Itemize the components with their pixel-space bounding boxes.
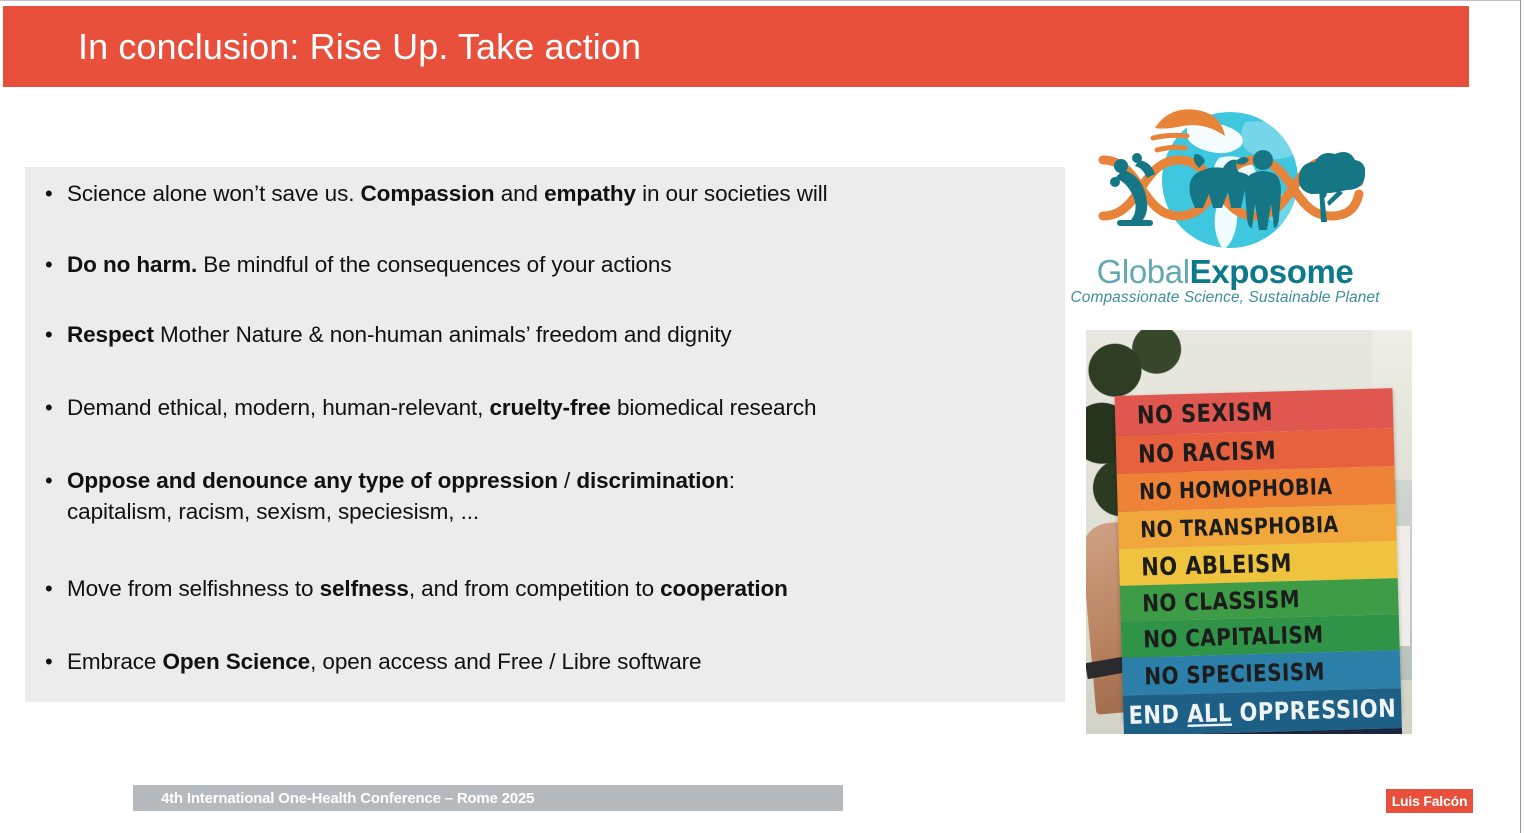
- protest-banner-photo: NO SEXISM NO RACISM NO HOMOPHOBIA NO TRA…: [1086, 330, 1412, 734]
- logo-word-exposome: Exposome: [1190, 253, 1354, 290]
- end-underlined: ALL: [1187, 699, 1232, 729]
- sign-line-text: NO CLASSISM: [1120, 585, 1300, 618]
- sign-line-text: NO TRANSPHOBIA: [1118, 511, 1339, 543]
- sign-line-text: NO CAPITALISM: [1121, 620, 1324, 654]
- end-post: OPPRESSION: [1231, 694, 1396, 727]
- author-name-label: Luis Falcón: [1386, 792, 1473, 810]
- sign-line-text: NO ABLEISM: [1119, 548, 1292, 581]
- bullet-marker-icon: •: [37, 393, 67, 423]
- sign-line-end-oppression: END ALL OPPRESSION: [1123, 688, 1402, 734]
- end-pre: END: [1128, 700, 1187, 730]
- footer-conference-label: 4th International One-Health Conference …: [161, 789, 534, 808]
- list-item: • Do no harm. Be mindful of the conseque…: [37, 250, 1057, 280]
- sign-line-text: END ALL OPPRESSION: [1128, 694, 1396, 730]
- bullet-text: Embrace Open Science, open access and Fr…: [67, 647, 1057, 677]
- bullet-marker-icon: •: [37, 574, 67, 604]
- list-item: • Oppose and denounce any type of oppres…: [37, 466, 1057, 527]
- sign-line-text: NO RACISM: [1116, 436, 1277, 469]
- list-item: • Demand ethical, modern, human-relevant…: [37, 393, 1057, 423]
- global-exposome-logo: GlobalExposome Compassionate Science, Su…: [1040, 98, 1410, 310]
- sign-line-text: NO SEXISM: [1115, 397, 1274, 430]
- bullet-marker-icon: •: [37, 179, 67, 209]
- bullet-text: Respect Mother Nature & non-human animal…: [67, 320, 1057, 350]
- list-item: • Move from selfishness to selfness, and…: [37, 574, 1057, 604]
- author-badge: Luis Falcón: [1386, 789, 1473, 813]
- bullet-text: Move from selfishness to selfness, and f…: [67, 574, 1057, 604]
- bullet-content-panel: • Science alone won’t save us. Compassio…: [25, 167, 1065, 702]
- logo-tagline: Compassionate Science, Sustainable Plane…: [1040, 288, 1410, 308]
- list-item: • Respect Mother Nature & non-human anim…: [37, 320, 1057, 350]
- sign-line-text: NO HOMOPHOBIA: [1117, 474, 1333, 506]
- bullet-text: Demand ethical, modern, human-relevant, …: [67, 393, 1057, 423]
- footer-conference-bar: 4th International One-Health Conference …: [133, 785, 843, 811]
- bullet-marker-icon: •: [37, 647, 67, 677]
- bullet-text: Science alone won’t save us. Compassion …: [67, 179, 1057, 209]
- globe-dna-logo-icon: [1095, 98, 1365, 258]
- bullet-text: Oppose and denounce any type of oppressi…: [67, 466, 1057, 527]
- list-item: • Science alone won’t save us. Compassio…: [37, 179, 1057, 209]
- slide-right-border: [1520, 0, 1521, 833]
- protest-sign: NO SEXISM NO RACISM NO HOMOPHOBIA NO TRA…: [1115, 388, 1402, 721]
- bullet-marker-icon: •: [37, 466, 67, 496]
- bullet-marker-icon: •: [37, 320, 67, 350]
- slide-title-banner: In conclusion: Rise Up. Take action: [3, 6, 1469, 87]
- logo-wordmark: GlobalExposome: [1040, 253, 1410, 291]
- bullet-text: Do no harm. Be mindful of the consequenc…: [67, 250, 1057, 280]
- slide-top-border: [0, 0, 1521, 1]
- page-title: In conclusion: Rise Up. Take action: [78, 24, 641, 69]
- sign-line-text: NO SPECIESISM: [1122, 657, 1325, 691]
- logo-word-global: Global: [1097, 253, 1190, 290]
- list-item: • Embrace Open Science, open access and …: [37, 647, 1057, 677]
- slide-canvas: In conclusion: Rise Up. Take action • Sc…: [0, 0, 1524, 833]
- bullet-marker-icon: •: [37, 250, 67, 280]
